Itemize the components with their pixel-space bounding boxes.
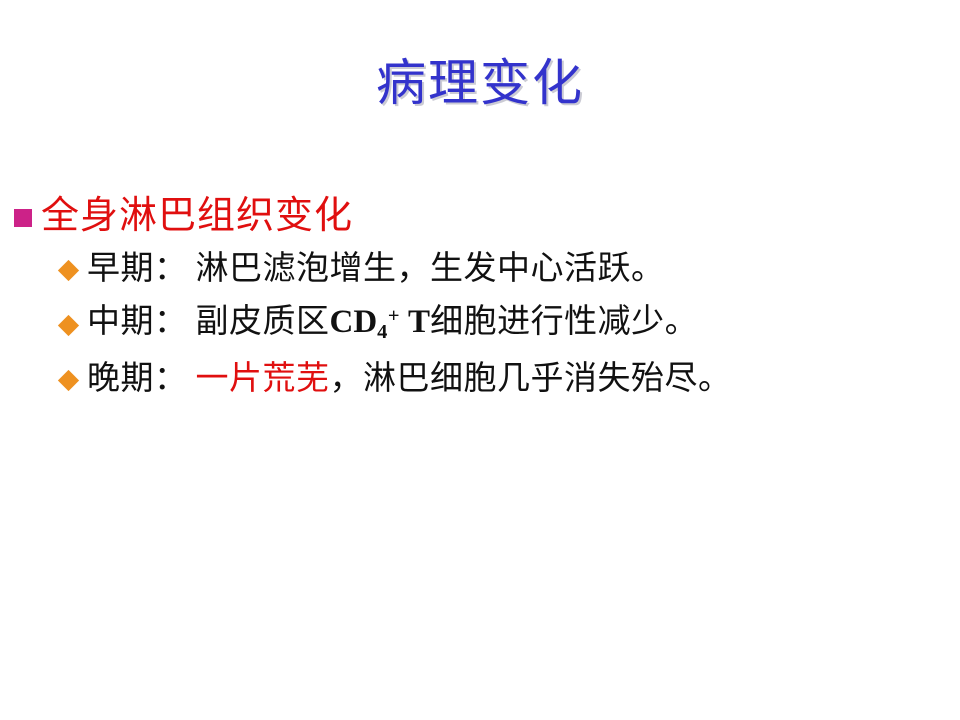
cd-marker-superscript: + <box>388 305 400 327</box>
middle-stage-body-post: 细胞进行性减少。 <box>430 305 698 341</box>
bullet-item-middle-stage[interactable]: 中期：副皮质区CD4+T细胞进行性减少。 <box>0 297 960 352</box>
page-title: 病理变化 <box>0 56 960 111</box>
late-stage-body-post: ，淋巴细胞几乎消失殆尽。 <box>330 361 732 397</box>
slide-canvas: 病理变化 全身淋巴组织变化 早期：淋巴滤泡增生，生发中心活跃。 中期：副皮质区C… <box>0 0 960 720</box>
bullet-item-early-stage[interactable]: 早期：淋巴滤泡增生，生发中心活跃。 <box>0 242 960 297</box>
early-stage-label: 早期： <box>87 251 188 287</box>
diamond-bullet-icon <box>58 259 79 280</box>
slide-body: 全身淋巴组织变化 早期：淋巴滤泡增生，生发中心活跃。 中期：副皮质区CD4+T细… <box>0 190 960 407</box>
middle-stage-label: 中期： <box>87 305 188 341</box>
bullet-middle-stage-text: 中期：副皮质区CD4+T细胞进行性减少。 <box>87 306 698 342</box>
bullet-early-stage-text: 早期：淋巴滤泡增生，生发中心活跃。 <box>87 253 665 286</box>
late-stage-label: 晚期： <box>87 361 188 397</box>
cd-marker-subscript: 4 <box>377 321 388 343</box>
bullet-item-late-stage[interactable]: 晚期：一片荒芜，淋巴细胞几乎消失殆尽。 <box>0 352 960 407</box>
middle-stage-body-pre: 副皮质区 <box>196 305 330 341</box>
square-bullet-icon <box>14 209 32 227</box>
cd-marker-base: CD <box>330 305 378 341</box>
late-stage-highlight: 一片荒芜 <box>196 361 330 397</box>
diamond-bullet-icon <box>58 314 79 335</box>
t-cell-marker: T <box>408 305 430 341</box>
bullet-item-level1[interactable]: 全身淋巴组织变化 <box>0 190 960 242</box>
diamond-bullet-icon <box>58 369 79 390</box>
bullet-late-stage-text: 晚期：一片荒芜，淋巴细胞几乎消失殆尽。 <box>87 363 732 396</box>
bullet-level1-label: 全身淋巴组织变化 <box>41 197 353 235</box>
early-stage-body: 淋巴滤泡增生，生发中心活跃。 <box>196 251 665 287</box>
